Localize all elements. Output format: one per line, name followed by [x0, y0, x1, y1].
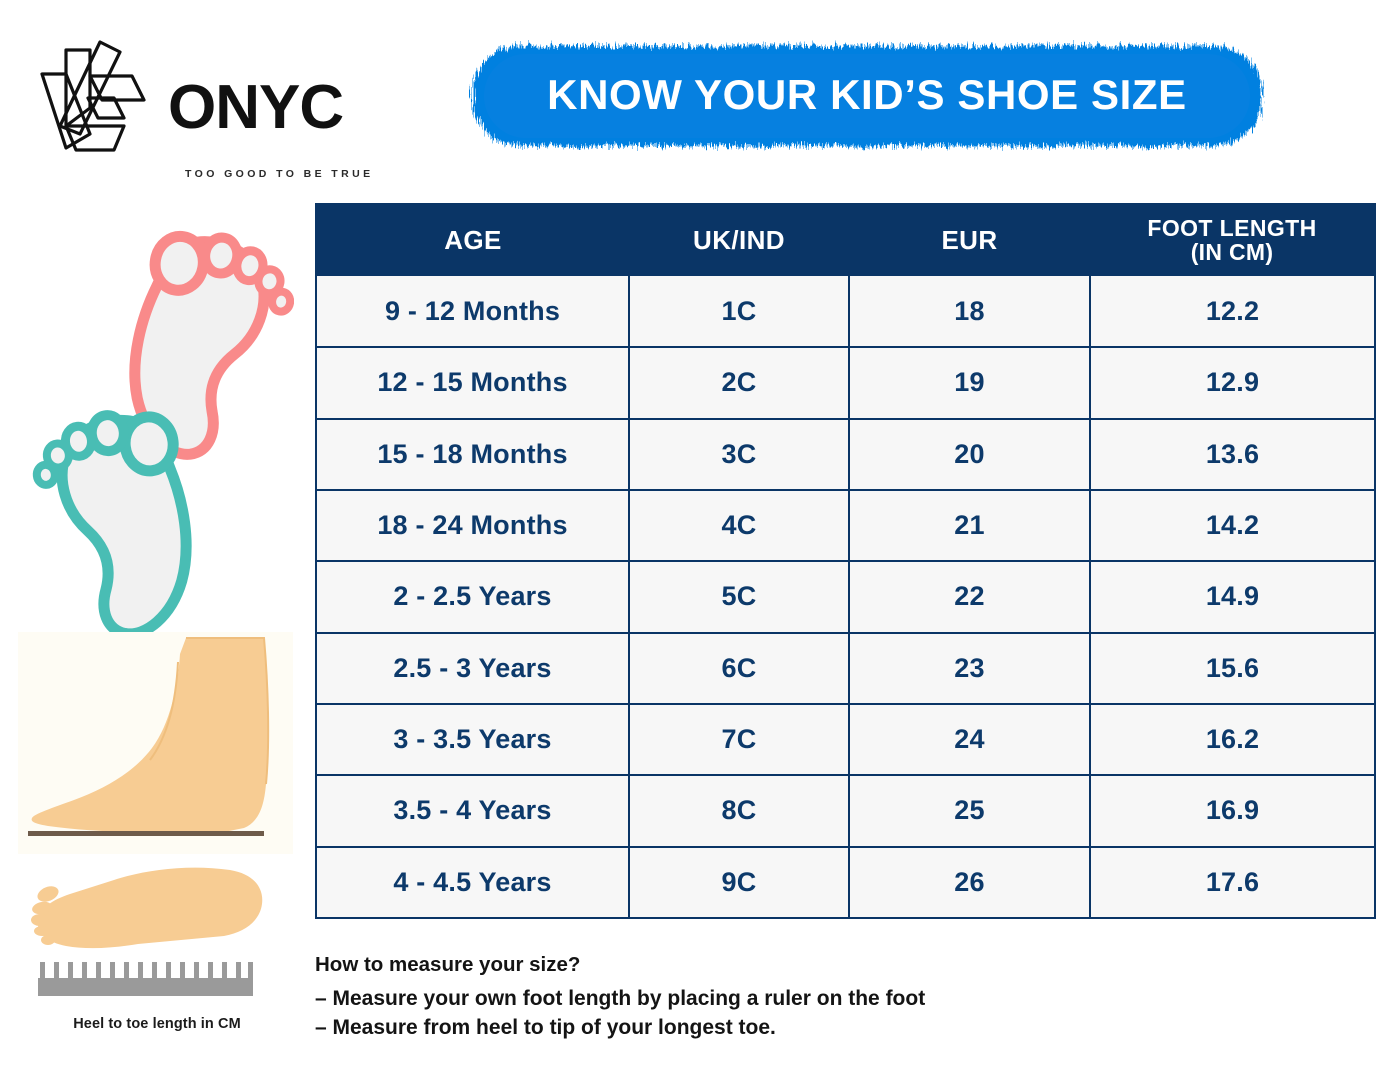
cell-eur: 25 [849, 775, 1090, 846]
cell-foot: 14.9 [1090, 561, 1375, 632]
header-banner: KNOW YOUR KID’S SHOE SIZE [458, 34, 1276, 158]
baby-footprints-illustration [14, 206, 294, 636]
cell-eur: 22 [849, 561, 1090, 632]
cell-foot: 15.6 [1090, 633, 1375, 704]
table-header: AGE UK/IND EUR FOOT LENGTH (IN CM) [316, 204, 1375, 276]
baby-footprint-teal-icon [31, 408, 195, 636]
cell-age: 3.5 - 4 Years [316, 775, 629, 846]
cell-age: 9 - 12 Months [316, 276, 629, 347]
cell-uk: 9C [629, 847, 849, 918]
cell-eur: 26 [849, 847, 1090, 918]
instruction-bullet-2: – Measure from heel to tip of your longe… [315, 1013, 1215, 1043]
cell-eur: 24 [849, 704, 1090, 775]
column-header-uk: UK/IND [629, 204, 849, 276]
table-row: 4 - 4.5 Years 9C 26 17.6 [316, 847, 1375, 918]
cell-foot: 13.6 [1090, 419, 1375, 490]
cell-eur: 21 [849, 490, 1090, 561]
column-header-age-label: AGE [321, 227, 625, 254]
cell-uk: 5C [629, 561, 849, 632]
cell-foot: 12.9 [1090, 347, 1375, 418]
foot-top-view-with-ruler [18, 858, 293, 1008]
table-row: 3 - 3.5 Years 7C 24 16.2 [316, 704, 1375, 775]
cell-eur: 23 [849, 633, 1090, 704]
table-row: 2 - 2.5 Years 5C 22 14.9 [316, 561, 1375, 632]
cell-uk: 8C [629, 775, 849, 846]
table-header-row: AGE UK/IND EUR FOOT LENGTH (IN CM) [316, 204, 1375, 276]
column-header-uk-label: UK/IND [633, 227, 845, 254]
cell-age: 3 - 3.5 Years [316, 704, 629, 775]
table-row: 15 - 18 Months 3C 20 13.6 [316, 419, 1375, 490]
table-row: 12 - 15 Months 2C 19 12.9 [316, 347, 1375, 418]
cell-uk: 6C [629, 633, 849, 704]
column-header-foot-length-unit: (IN CM) [1094, 241, 1370, 265]
column-header-foot-length: FOOT LENGTH (IN CM) [1090, 204, 1375, 276]
ruler-cm-icon [38, 962, 253, 996]
foot-side-view-icon [18, 632, 293, 854]
cell-age: 15 - 18 Months [316, 419, 629, 490]
column-header-foot-length-label: FOOT LENGTH [1094, 217, 1370, 241]
cell-foot: 16.9 [1090, 775, 1375, 846]
cell-age: 2.5 - 3 Years [316, 633, 629, 704]
brand-wordmark: ONYC [168, 77, 343, 139]
instructions-heading: How to measure your size? [315, 952, 1215, 979]
cell-uk: 3C [629, 419, 849, 490]
cell-uk: 7C [629, 704, 849, 775]
cell-age: 2 - 2.5 Years [316, 561, 629, 632]
cell-foot: 14.2 [1090, 490, 1375, 561]
table-row: 2.5 - 3 Years 6C 23 15.6 [316, 633, 1375, 704]
onyc-chevron-logo-icon [28, 30, 158, 160]
cell-eur: 19 [849, 347, 1090, 418]
cell-uk: 4C [629, 490, 849, 561]
column-header-eur-label: EUR [853, 227, 1086, 254]
brand-tagline: TOO GOOD TO BE TRUE [185, 168, 373, 180]
cell-age: 12 - 15 Months [316, 347, 629, 418]
measure-instructions: How to measure your size? – Measure your… [315, 952, 1215, 1043]
cell-uk: 2C [629, 347, 849, 418]
cell-eur: 18 [849, 276, 1090, 347]
brand-logo: ONYC TOO GOOD TO BE TRUE [28, 30, 388, 165]
table-row: 3.5 - 4 Years 8C 25 16.9 [316, 775, 1375, 846]
cell-eur: 20 [849, 419, 1090, 490]
cell-age: 4 - 4.5 Years [316, 847, 629, 918]
cell-foot: 12.2 [1090, 276, 1375, 347]
column-header-eur: EUR [849, 204, 1090, 276]
table-row: 9 - 12 Months 1C 18 12.2 [316, 276, 1375, 347]
instruction-bullet-1: – Measure your own foot length by placin… [315, 984, 1215, 1014]
ruler-caption: Heel to toe length in CM [18, 1016, 296, 1032]
cell-foot: 17.6 [1090, 847, 1375, 918]
size-chart-page: ONYC TOO GOOD TO BE TRUE KNOW YOUR KID’S… [0, 0, 1390, 1074]
cell-foot: 16.2 [1090, 704, 1375, 775]
foot-top-view-icon [31, 868, 262, 949]
banner-title: KNOW YOUR KID’S SHOE SIZE [458, 34, 1276, 158]
cell-uk: 1C [629, 276, 849, 347]
cell-age: 18 - 24 Months [316, 490, 629, 561]
table-row: 18 - 24 Months 4C 21 14.2 [316, 490, 1375, 561]
shoe-size-table: AGE UK/IND EUR FOOT LENGTH (IN CM) 9 - 1… [315, 203, 1376, 919]
table-body: 9 - 12 Months 1C 18 12.2 12 - 15 Months … [316, 276, 1375, 918]
column-header-age: AGE [316, 204, 629, 276]
